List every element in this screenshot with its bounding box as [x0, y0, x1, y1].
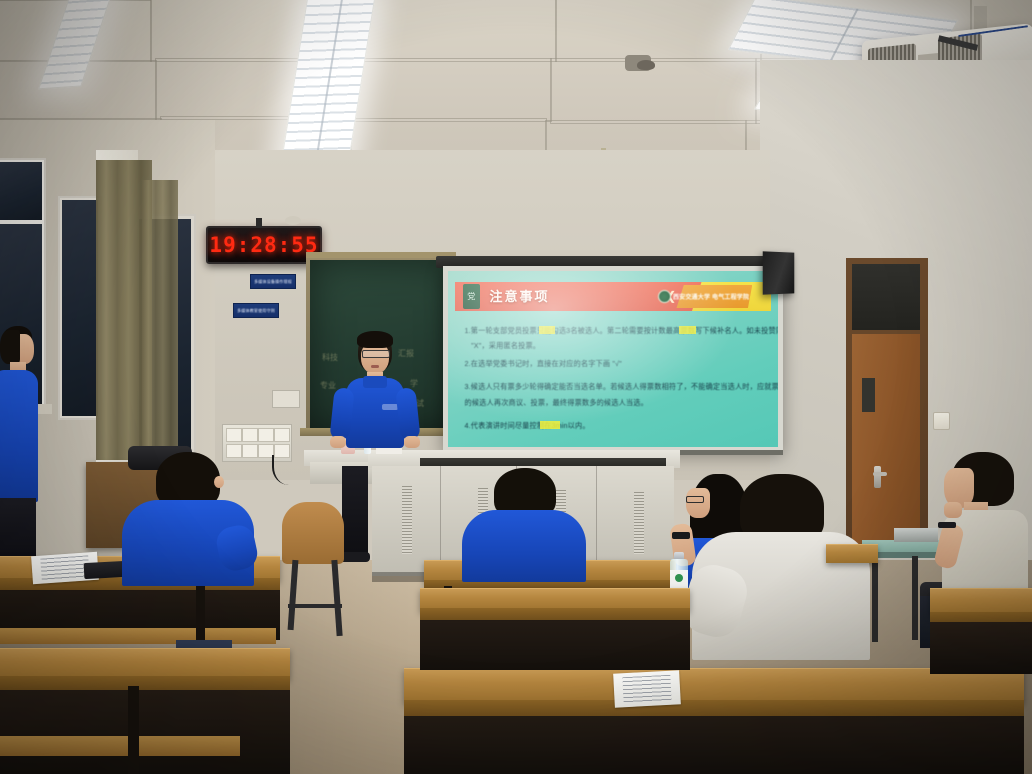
plaque-upper: 多媒体设备操作规程: [250, 274, 296, 289]
classroom-scene: 19:28:55 多媒体设备操作规程 多媒体教室使用守则 科技 汇报 专业 学 …: [0, 0, 1032, 774]
standing-student-hair-back: [0, 330, 20, 364]
door-handle[interactable]: [874, 466, 881, 488]
student-left-ear: [214, 476, 224, 488]
slide-line-3: 2.在选举党委书记时，直接在对应的名字下画 "√": [465, 359, 622, 369]
wooden-chair[interactable]: [282, 502, 344, 564]
slide-highlight-3: [540, 421, 560, 430]
standing-student-shirt: [0, 370, 38, 502]
student-right-hand: [944, 502, 962, 518]
bench-front-right-edge: [404, 700, 1024, 716]
outlet-cable: [272, 455, 300, 485]
presenter-hair: [357, 331, 393, 348]
bench-row1-seat: [0, 628, 276, 644]
projection-screen: 党 注意事项 ❮ 西安交通大学 电气工程学院 1.第一轮支部党员投票只能勾选3名…: [443, 266, 783, 452]
presenter-logo-icon: [382, 404, 398, 410]
slide-title: 注意事项: [489, 286, 549, 305]
seated-student-center: [462, 468, 586, 574]
bench-far-right-under: [930, 622, 1032, 674]
light-switch[interactable]: [933, 412, 950, 430]
slide-line-2: "X"，采用匿名投票。: [471, 341, 540, 351]
standing-student-left: [0, 326, 46, 556]
presenter-collar: [363, 376, 387, 388]
bench-far-right-desktop: [930, 588, 1032, 615]
window-curtain-secondary[interactable]: [142, 180, 178, 470]
wall-sensor-icon: [285, 216, 301, 225]
plaque-lower-text: 多媒体教室使用守则: [237, 308, 275, 314]
student-center-shirt: [462, 510, 586, 582]
door-viewing-window: [862, 378, 875, 412]
chalkboard-upper-frame: [306, 252, 456, 258]
plaque-lower: 多媒体教室使用守则: [233, 303, 279, 318]
wall-box-small: [272, 390, 300, 408]
side-desk-leg-right: [912, 556, 918, 640]
clock-bracket: [256, 218, 262, 228]
bench-front-left-edge: [0, 676, 290, 690]
ceiling-smoke-detector-icon: [637, 60, 655, 70]
console-vent-far-right: [634, 492, 644, 554]
phone-on-desk[interactable]: [84, 561, 127, 579]
presenter-arm-right: [395, 387, 420, 441]
university-name-text: 西安交通大学 电气工程学院: [673, 292, 749, 301]
chair-cross-bar: [288, 604, 342, 608]
standing-student-pants: [0, 498, 36, 556]
slide-line-4: 3.候选人只有票多少轮得确定能否当选名单。若候选人得票数相符了，不能确定当选人时…: [465, 382, 779, 392]
slide-line-5: 的候选人再次商议、投票，最终得票数多的候选人当选。: [465, 398, 648, 408]
presenter: [330, 332, 420, 458]
wall-speaker: [763, 251, 795, 294]
clock-time-text: 19:28:55: [209, 233, 318, 257]
student-female-watch: [672, 532, 690, 539]
presenter-shirt: [346, 378, 404, 448]
bench-mid-right-desktop: [826, 544, 878, 563]
bench-front-left-seat: [0, 736, 240, 756]
student-right-watch: [938, 522, 956, 528]
presenter-hand-right: [404, 436, 420, 448]
slide-highlight-2: [679, 326, 696, 335]
glasses-icon: [362, 350, 390, 358]
slide-highlight-1: [539, 326, 556, 335]
presenter-hand-left: [330, 436, 346, 448]
side-desk-leg-left: [872, 556, 878, 642]
slide-content: 党 注意事项 ❮ 西安交通大学 电气工程学院 1.第一轮支部党员投票只能勾选3名…: [448, 271, 778, 447]
plaque-upper-text: 多媒体设备操作规程: [254, 279, 292, 285]
presenter-mouth: [371, 365, 379, 368]
party-emblem-text: 党: [467, 291, 475, 302]
ballot-paper-front[interactable]: [613, 670, 681, 707]
bench-right-edge: [420, 608, 690, 620]
university-seal-icon: [658, 290, 671, 303]
console-vent-left: [402, 486, 412, 554]
seated-student-white: [692, 474, 870, 660]
bottle-label-logo-icon: [675, 574, 683, 582]
slide-line-6: 4.代表演讲时间尽量控制在3min以内。: [465, 421, 590, 431]
bench-front-left-leg: [128, 686, 139, 774]
party-emblem-icon: 党: [463, 284, 480, 309]
presenter-legs: [342, 466, 368, 558]
slide-line-1: 1.第一轮支部党员投票只能勾选3名被选人。第二轮需要按计数最高票数写下候补名人。…: [465, 326, 779, 336]
university-logo: 西安交通大学 电气工程学院: [658, 290, 749, 303]
seated-student-left: [122, 452, 254, 568]
bench-front-left-desktop: [0, 648, 290, 679]
door-transom-window: [852, 264, 920, 330]
digital-wall-clock: 19:28:55: [206, 226, 322, 264]
slide-banner: 党 注意事项 ❮ 西安交通大学 电气工程学院: [455, 282, 772, 312]
